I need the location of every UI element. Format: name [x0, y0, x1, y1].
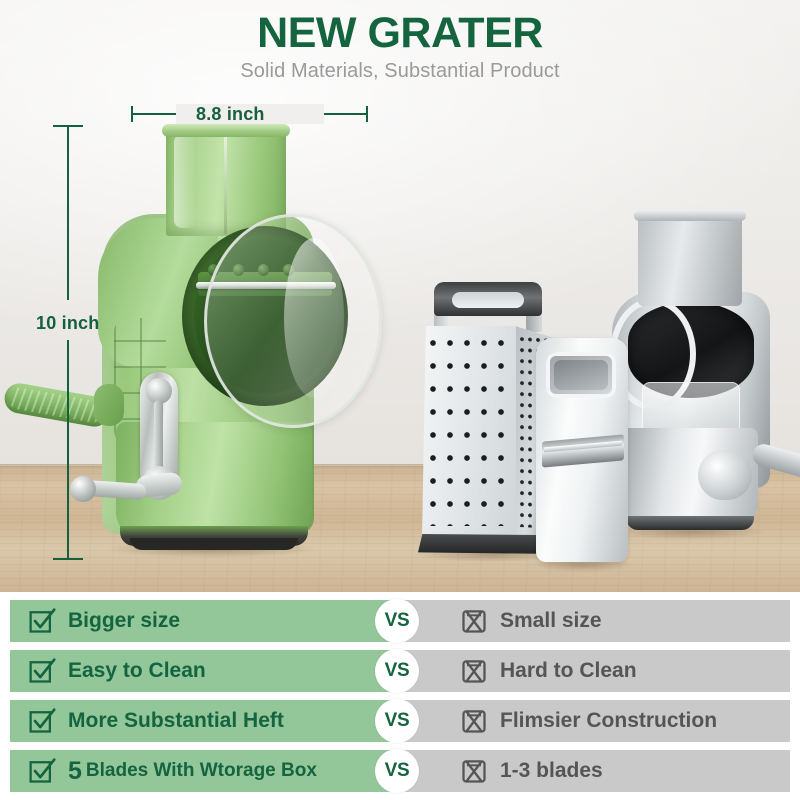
row-good-label: More Substantial Heft — [68, 700, 284, 742]
height-dimension-line-upper — [67, 126, 69, 300]
vs-badge: VS — [375, 649, 419, 693]
product-photo-scene: 8.8 inch 10 inch NEW GRATER Solid Materi… — [0, 0, 800, 592]
checkbox-check-icon — [28, 707, 56, 735]
table-row: Bigger size Small size VS — [10, 600, 790, 642]
checkbox-cross-icon — [460, 607, 488, 635]
table-row: More Substantial Heft Flimsier Construct… — [10, 700, 790, 742]
grater-handle-joint — [94, 384, 124, 426]
width-dimension-cap-left — [131, 106, 133, 122]
grater-lid-highlight — [284, 238, 344, 398]
mandoline-grip-opening — [554, 360, 608, 390]
white-mandoline-slicer — [528, 338, 638, 570]
green-rotary-grater — [78, 122, 378, 570]
checkbox-cross-icon — [460, 707, 488, 735]
infographic-page: 8.8 inch 10 inch NEW GRATER Solid Materi… — [0, 0, 800, 800]
row-bad-label: 1-3 blades — [500, 750, 603, 792]
table-row: Easy to Clean Hard to Clean VS — [10, 650, 790, 692]
row-good-label: Easy to Clean — [68, 650, 206, 692]
checkbox-cross-icon — [460, 757, 488, 785]
vs-badge: VS — [375, 599, 419, 643]
checkbox-check-icon — [28, 757, 56, 785]
grater-hopper-lip — [162, 124, 290, 137]
height-dimension-label: 10 inch — [36, 313, 99, 334]
grater-crank-grip — [70, 476, 96, 502]
height-dimension-line-lower — [67, 340, 69, 560]
height-dimension-cap-bottom — [53, 558, 83, 560]
box-grater-large-holes — [430, 340, 512, 526]
page-subtitle: Solid Materials, Substantial Product — [0, 60, 800, 83]
vs-badge: VS — [375, 749, 419, 793]
checkbox-check-icon — [28, 607, 56, 635]
table-row: 5 Blades With Wtorage Box 1-3 blades VS — [10, 750, 790, 792]
row-good-rest-text: Blades With Wtorage Box — [86, 760, 317, 782]
row-bad-label: Hard to Clean — [500, 650, 637, 692]
row-good-label: Bigger size — [68, 600, 180, 642]
checkbox-cross-icon — [460, 657, 488, 685]
row-bad-label: Flimsier Construction — [500, 700, 717, 742]
white-rotary-hopper — [638, 214, 742, 306]
page-title: NEW GRATER — [0, 12, 800, 55]
grater-hopper-highlight — [174, 134, 196, 228]
row-bad-label: Small size — [500, 600, 602, 642]
white-rotary-hopper-lip — [634, 210, 746, 221]
box-grater-handle-opening — [452, 292, 524, 308]
row-good-lead-number: 5 — [68, 757, 82, 786]
grater-hopper-seam — [224, 130, 227, 234]
row-good-label: 5 Blades With Wtorage Box — [68, 750, 317, 792]
width-dimension-cap-right — [366, 106, 368, 122]
height-dimension-cap-top — [53, 125, 83, 127]
vs-badge: VS — [375, 699, 419, 743]
comparison-table: Bigger size Small size VS Easy to Clean … — [0, 596, 800, 800]
white-rotary-suction-knob — [698, 450, 752, 500]
width-dimension-label: 8.8 inch — [196, 104, 265, 125]
checkbox-check-icon — [28, 657, 56, 685]
white-rotary-base — [626, 516, 754, 530]
grater-base-pad — [130, 538, 298, 550]
